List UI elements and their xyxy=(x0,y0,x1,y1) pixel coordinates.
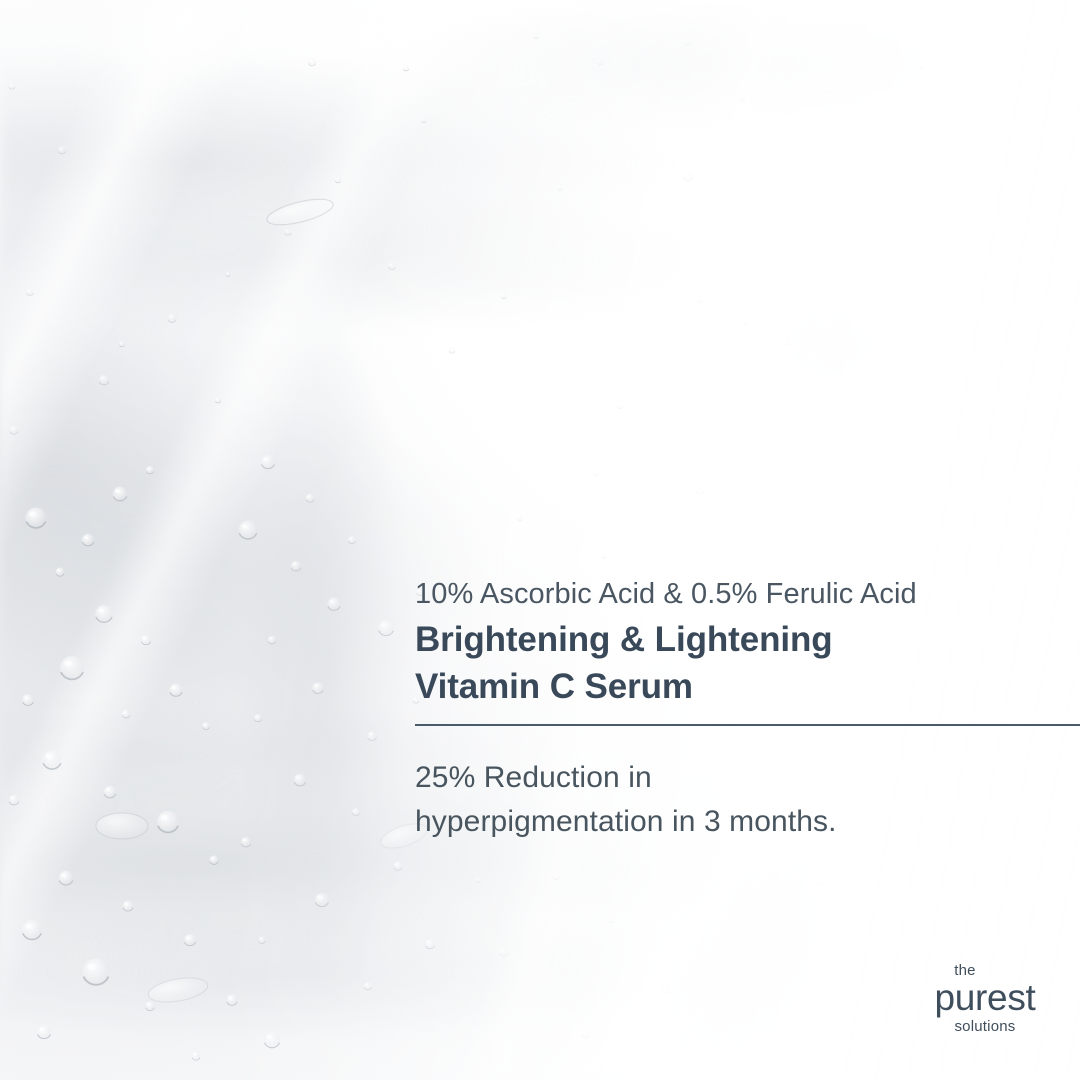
headline-line-2: Vitamin C Serum xyxy=(415,664,1080,711)
product-ad-canvas: 10% Ascorbic Acid & 0.5% Ferulic Acid Br… xyxy=(0,0,1080,1080)
background-bubble-field xyxy=(0,0,1080,1080)
product-copy-block: 10% Ascorbic Acid & 0.5% Ferulic Acid Br… xyxy=(415,576,1080,844)
brand-logo: the purest solutions xyxy=(922,963,1048,1034)
brand-logo-line-solutions: solutions xyxy=(922,1019,1048,1034)
brand-logo-line-the: the xyxy=(882,963,1048,978)
headline-divider-rule xyxy=(415,724,1080,726)
headline-line-1: Brightening & Lightening xyxy=(415,617,1080,664)
product-headline: Brightening & Lightening Vitamin C Serum xyxy=(415,617,1080,710)
claim-line-2: hyperpigmentation in 3 months. xyxy=(415,800,1080,844)
claim-line-1: 25% Reduction in xyxy=(415,756,1080,800)
brand-logo-line-purest: purest xyxy=(922,979,1048,1016)
ingredient-eyebrow: 10% Ascorbic Acid & 0.5% Ferulic Acid xyxy=(415,576,1080,613)
product-claim: 25% Reduction in hyperpigmentation in 3 … xyxy=(415,756,1080,844)
